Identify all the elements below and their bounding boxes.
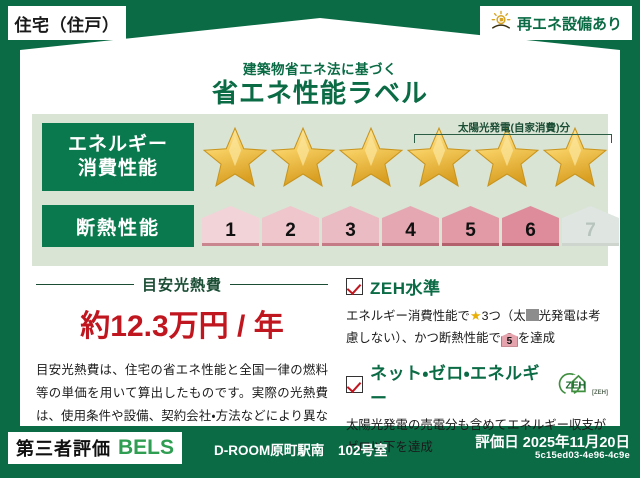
svg-text:ZEH: ZEH xyxy=(566,381,586,392)
insulation-grade-badge: 4 xyxy=(382,206,439,246)
insulation-grade-scale: 1 2 3 4 5 6 7 xyxy=(202,206,619,246)
insulation-grade-badge: 6 xyxy=(502,206,559,246)
inline-star-icon: ★ xyxy=(470,308,482,323)
check-icon xyxy=(346,376,363,393)
insulation-grade-badge: 1 xyxy=(202,206,259,246)
building-name: D-ROOM原町駅南 xyxy=(214,439,324,459)
solar-generation-note: 太陽光発電(自家消費)分 xyxy=(410,120,618,135)
evaluation-id: 5c15ed03-4e96-4c9e xyxy=(535,450,630,461)
star-icon xyxy=(270,125,336,189)
criterion-body-mid: 3つ（太 xyxy=(482,309,526,323)
energy-performance-label: 住宅（住戸） 再エネ設備あり 建築物省エネ法に基づく 省エ xyxy=(0,0,640,478)
energy-label-line2: 消費性能 xyxy=(78,157,158,181)
energy-performance-label-box: エネルギー 消費性能 xyxy=(42,123,194,191)
bels-logo-text: BELS xyxy=(118,436,174,460)
criterion-title: ZEH水準 xyxy=(370,274,441,299)
bels-certification-chip: 第三者評価 BELS xyxy=(8,432,182,464)
estimated-cost-heading: 目安光熱費 xyxy=(36,274,328,295)
page-title: 省エネ性能ラベル xyxy=(20,73,620,110)
rule-right xyxy=(230,284,328,286)
zeh-logo-subtext: [ZEH] xyxy=(592,390,608,396)
criterion-header: ZEH水準 xyxy=(346,274,608,299)
criterion-header: ネット・ゼロ・エネルギー ZEH [ZEH] xyxy=(346,359,608,409)
insulation-grade-badge: 5 xyxy=(442,206,499,246)
estimated-cost-value: 約12.3万円 / 年 xyxy=(36,301,328,345)
insulation-grade-badge: 2 xyxy=(262,206,319,246)
energy-performance-row: エネルギー 消費性能 太陽光発電(自家消費)分 xyxy=(32,122,608,192)
performance-panel: エネルギー 消費性能 太陽光発電(自家消費)分 xyxy=(32,114,608,266)
criterion-body-pre: エネルギー消費性能で xyxy=(346,309,470,323)
footer-bar: 第三者評価 BELS D-ROOM原町駅南 102号室 評価日 2025年11月… xyxy=(0,426,640,478)
rule-left xyxy=(36,284,134,286)
insulation-grade-badge: 3 xyxy=(322,206,379,246)
criterion-body-end: を達成 xyxy=(518,331,555,345)
insulation-label: 断熱性能 xyxy=(76,213,160,240)
energy-label-line1: エネルギー xyxy=(68,133,168,157)
insulation-grade-badge: 7 xyxy=(562,206,619,246)
solar-coverage-bracket xyxy=(414,134,612,143)
criterion-body: エネルギー消費性能で★3つ（太光発電は考慮しない）、かつ断熱性能で5を達成 xyxy=(346,305,608,349)
star-icon xyxy=(338,125,404,189)
redaction-block xyxy=(526,309,539,321)
insulation-performance-label-box: 断熱性能 xyxy=(42,205,194,247)
criterion-title: ネット・ゼロ・エネルギー xyxy=(370,359,543,409)
third-party-eval-label: 第三者評価 xyxy=(16,435,111,461)
evaluation-date: 評価日 2025年11月20日 xyxy=(475,431,630,452)
estimated-cost-section: 目安光熱費 約12.3万円 / 年 目安光熱費は、住宅の省エネ性能と全国一律の燃… xyxy=(36,274,328,451)
room-number: 102号室 xyxy=(338,439,388,459)
criterion-zeh-standard: ZEH水準 エネルギー消費性能で★3つ（太光発電は考慮しない）、かつ断熱性能で5… xyxy=(346,274,608,349)
estimated-cost-title: 目安光熱費 xyxy=(142,274,222,295)
star-icon xyxy=(202,125,268,189)
inline-grade-badge: 5 xyxy=(501,333,518,347)
check-icon xyxy=(346,278,363,295)
label-card: 建築物省エネ法に基づく 省エネ性能ラベル エネルギー 消費性能 xyxy=(20,18,620,426)
zeh-house-logo-icon: ZEH [ZEH] xyxy=(553,372,608,396)
insulation-performance-row: 断熱性能 1 2 3 4 5 6 7 xyxy=(32,202,608,250)
